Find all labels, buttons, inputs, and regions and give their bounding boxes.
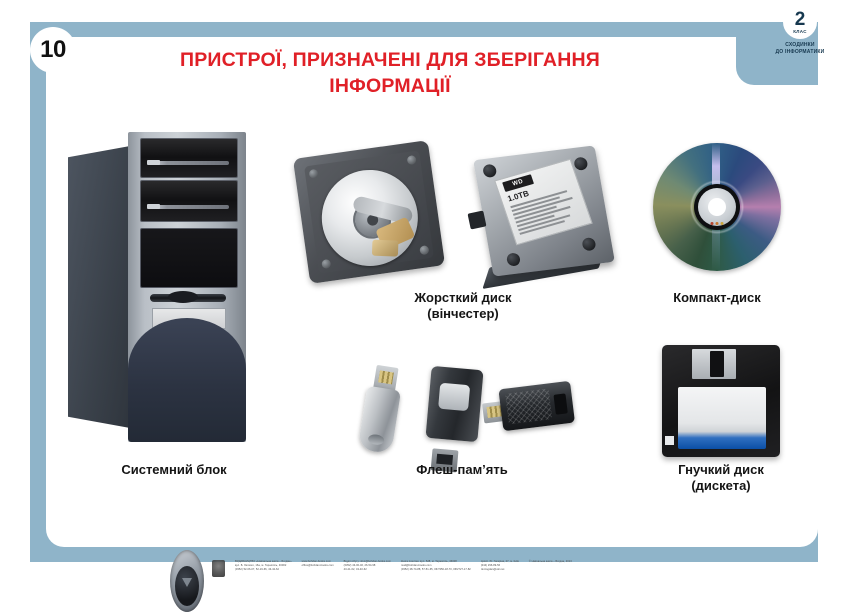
hdd-mount-hole-tr xyxy=(573,157,588,171)
page-number-badge: 10 xyxy=(30,27,76,73)
tower-blank-bay xyxy=(140,228,238,288)
power-symbol-icon xyxy=(182,578,192,587)
tower-vent xyxy=(150,294,226,302)
power-button-inner xyxy=(175,566,199,606)
floppy-write-protect-tab xyxy=(665,436,674,445)
poster-page: 10 2 КЛАС СХОДИНКИ ДО ІНФОРМАТИКИ ПРИСТР… xyxy=(0,0,848,600)
hdd-product-label: WD 1.0TB xyxy=(494,159,593,246)
cd-center-hole xyxy=(708,198,726,216)
hdd-screw-tr xyxy=(407,155,417,165)
flash-drive-textured-slot xyxy=(553,393,567,414)
wd-brand-logo: WD xyxy=(502,174,534,192)
flash-drive-textured-body xyxy=(498,381,575,431)
optical-drive-slot-2 xyxy=(149,205,229,209)
hard-disk-closed-icon: WD 1.0TB xyxy=(475,142,615,284)
imprint-column-copyright: © Навчальна книга – Богдан, 2013 xyxy=(529,560,572,564)
cd-colour-speckles xyxy=(711,222,724,225)
label-floppy-disk-line-1: Гнучкий диск xyxy=(601,462,841,478)
floppy-shell xyxy=(662,345,780,457)
optical-drive-bay-1 xyxy=(140,138,238,178)
hdd-screw-tl xyxy=(309,169,319,179)
publisher-logo-icon xyxy=(212,560,225,577)
hdd-screw-br xyxy=(419,245,429,255)
hard-disk-open-icon xyxy=(295,143,445,283)
label-hard-disk-line-1: Жорсткий диск xyxy=(343,290,583,306)
flash-drive-retractable-body xyxy=(425,366,483,442)
label-hard-disk: Жорсткий диск (вінчестер) xyxy=(343,290,583,323)
hdd-mount-hole-tl xyxy=(482,164,497,178)
imprint-column-mailorder: Книга поштою: вул. 528, м. Тернопіль, 46… xyxy=(401,560,471,572)
page-number-text: 10 xyxy=(40,36,66,64)
hdd-mount-hole-bl xyxy=(506,252,521,266)
imprint-column-sales: Відділ збуту: sbut@bohdan-books.com (035… xyxy=(344,560,391,572)
label-flash-memory-line-1: Флеш-пам’ять xyxy=(342,462,582,478)
label-compact-disc: Компакт-диск xyxy=(597,290,837,306)
flash-drive-slider[interactable] xyxy=(438,383,470,412)
grade-badge: 2 КЛАС СХОДИНКИ ДО ІНФОРМАТИКИ xyxy=(762,5,838,56)
computer-tower-icon xyxy=(68,132,268,442)
series-subtitle: СХОДИНКИ ДО ІНФОРМАТИКИ xyxy=(762,42,838,56)
page-title-line-2: ІНФОРМАЦІЇ xyxy=(90,74,690,100)
hdd-open-chassis xyxy=(293,140,445,284)
label-system-unit-line-1: Системний блок xyxy=(54,462,294,478)
hdd-flex-cable-2 xyxy=(372,240,399,257)
label-floppy-disk-line-2: (дискета) xyxy=(601,478,841,494)
hdd-top-cover: WD 1.0TB xyxy=(473,145,615,276)
tower-lower-fascia xyxy=(128,318,246,442)
imprint-column-kyiv: просп. Ю. Гагаріна, 27, м. Київ (044) 29… xyxy=(481,560,519,572)
flash-drive-silver-body xyxy=(357,386,401,455)
usb-flash-drive-icon xyxy=(362,362,562,458)
flash-drive-silver xyxy=(357,364,404,454)
floppy-disk-icon xyxy=(662,345,780,457)
floppy-paper-label xyxy=(678,387,766,449)
imprint-column-publisher: ВИДАВНИЦТВО «Навчальна книга – Богдан» в… xyxy=(235,560,292,572)
grade-number: 2 xyxy=(795,10,806,29)
hdd-screw-bl xyxy=(321,259,331,269)
grade-circle: 2 КЛАС xyxy=(783,5,817,39)
grade-word: КЛАС xyxy=(793,30,807,35)
label-hard-disk-line-2: (вінчестер) xyxy=(343,306,583,322)
imprint-column-website: www.bohdan-books.com office@bohdan-books… xyxy=(302,560,334,568)
optical-drive-slot-1 xyxy=(149,161,229,165)
label-system-unit: Системний блок xyxy=(54,462,294,478)
label-floppy-disk: Гнучкий диск (дискета) xyxy=(601,462,841,495)
page-title-line-1: ПРИСТРОЇ, ПРИЗНАЧЕНІ ДЛЯ ЗБЕРІГАННЯ xyxy=(90,48,690,74)
compact-disc-icon xyxy=(653,143,781,271)
flash-drive-retractable xyxy=(424,360,484,460)
optical-drive-bay-2 xyxy=(140,180,238,222)
floppy-shutter-window xyxy=(710,351,724,377)
optical-drive-eject-1 xyxy=(147,160,160,165)
optical-drive-eject-2 xyxy=(147,204,160,209)
series-subtitle-line-1: СХОДИНКИ xyxy=(762,42,838,49)
label-flash-memory: Флеш-пам’ять xyxy=(342,462,582,478)
page-title: ПРИСТРОЇ, ПРИЗНАЧЕНІ ДЛЯ ЗБЕРІГАННЯ ІНФО… xyxy=(90,48,690,99)
tower-side-panel xyxy=(68,146,130,428)
label-compact-disc-line-1: Компакт-диск xyxy=(597,290,837,306)
hdd-mount-hole-br xyxy=(581,237,596,251)
publisher-imprint: ВИДАВНИЦТВО «Навчальна книга – Богдан» в… xyxy=(212,560,812,586)
flash-drive-textured xyxy=(481,381,578,454)
hdd-open-interior xyxy=(304,150,434,273)
series-subtitle-line-2: ДО ІНФОРМАТИКИ xyxy=(762,49,838,56)
hdd-sata-connector xyxy=(468,211,487,230)
power-button[interactable] xyxy=(170,550,204,612)
